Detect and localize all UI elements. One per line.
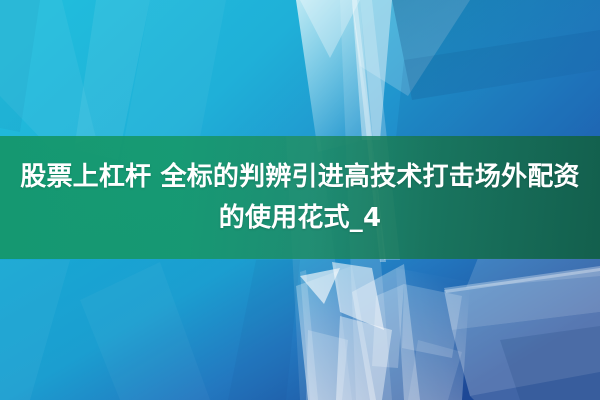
abstract-polygon-background	[0, 0, 600, 400]
cover-image: 股票上杠杆 全标的判辨引进高技术打击场外配资的使用花式_4	[0, 0, 600, 400]
